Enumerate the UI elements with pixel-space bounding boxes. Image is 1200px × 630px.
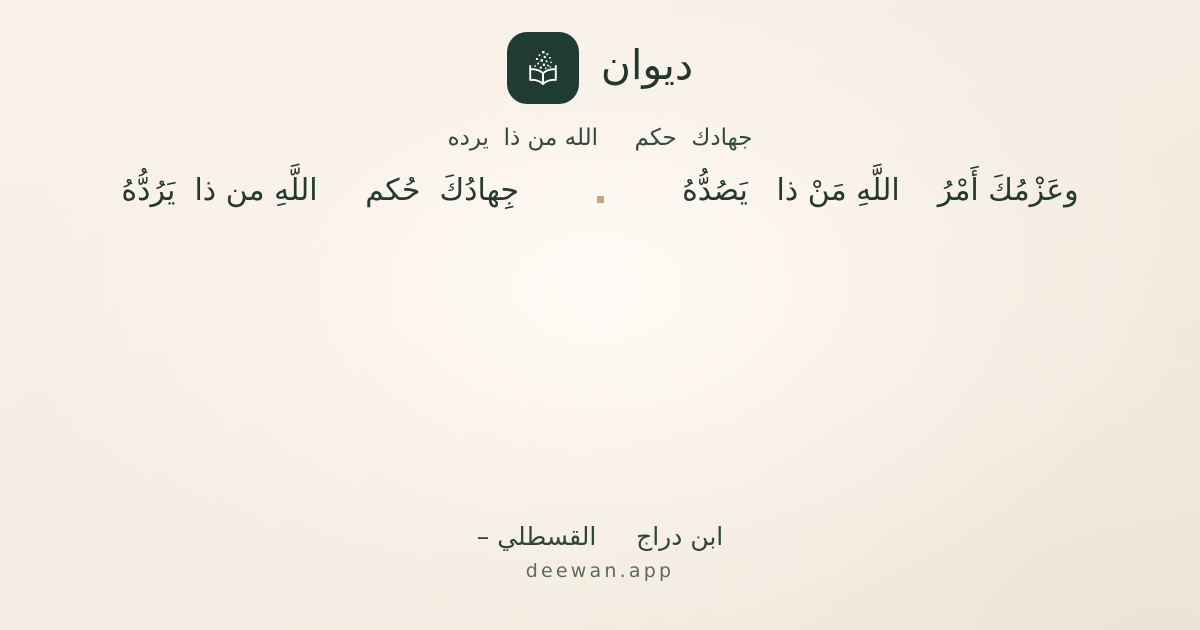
verse-line: جِهادُكَ حُكم اللَّهِ من ذا يَرُدُّهُ وع…: [50, 168, 1150, 213]
poetry-card: ديوان جهادك حكم الله من ذا يرده جِهادُكَ…: [0, 0, 1200, 630]
open-book-sparkles-icon: [521, 46, 565, 90]
verse-hemistich-first: جِهادُكَ حُكم اللَّهِ من ذا يَرُدُّهُ: [121, 168, 519, 213]
verse-separator-dot: [597, 196, 604, 203]
card-footer: ابن دراج القسطلي – deewan.app: [0, 521, 1200, 584]
verse-subtitle: جهادك حكم الله من ذا يرده: [448, 123, 753, 154]
brand-header: ديوان: [507, 32, 693, 104]
brand-name: ديوان: [601, 45, 693, 92]
poet-attribution: ابن دراج القسطلي –: [477, 521, 723, 554]
verse-hemistich-second: وعَزْمُكَ أَمْرُ اللَّهِ مَنْ ذا يَصُدُّ…: [682, 168, 1079, 213]
site-url: deewan.app: [526, 559, 674, 584]
app-logo: [507, 32, 579, 104]
